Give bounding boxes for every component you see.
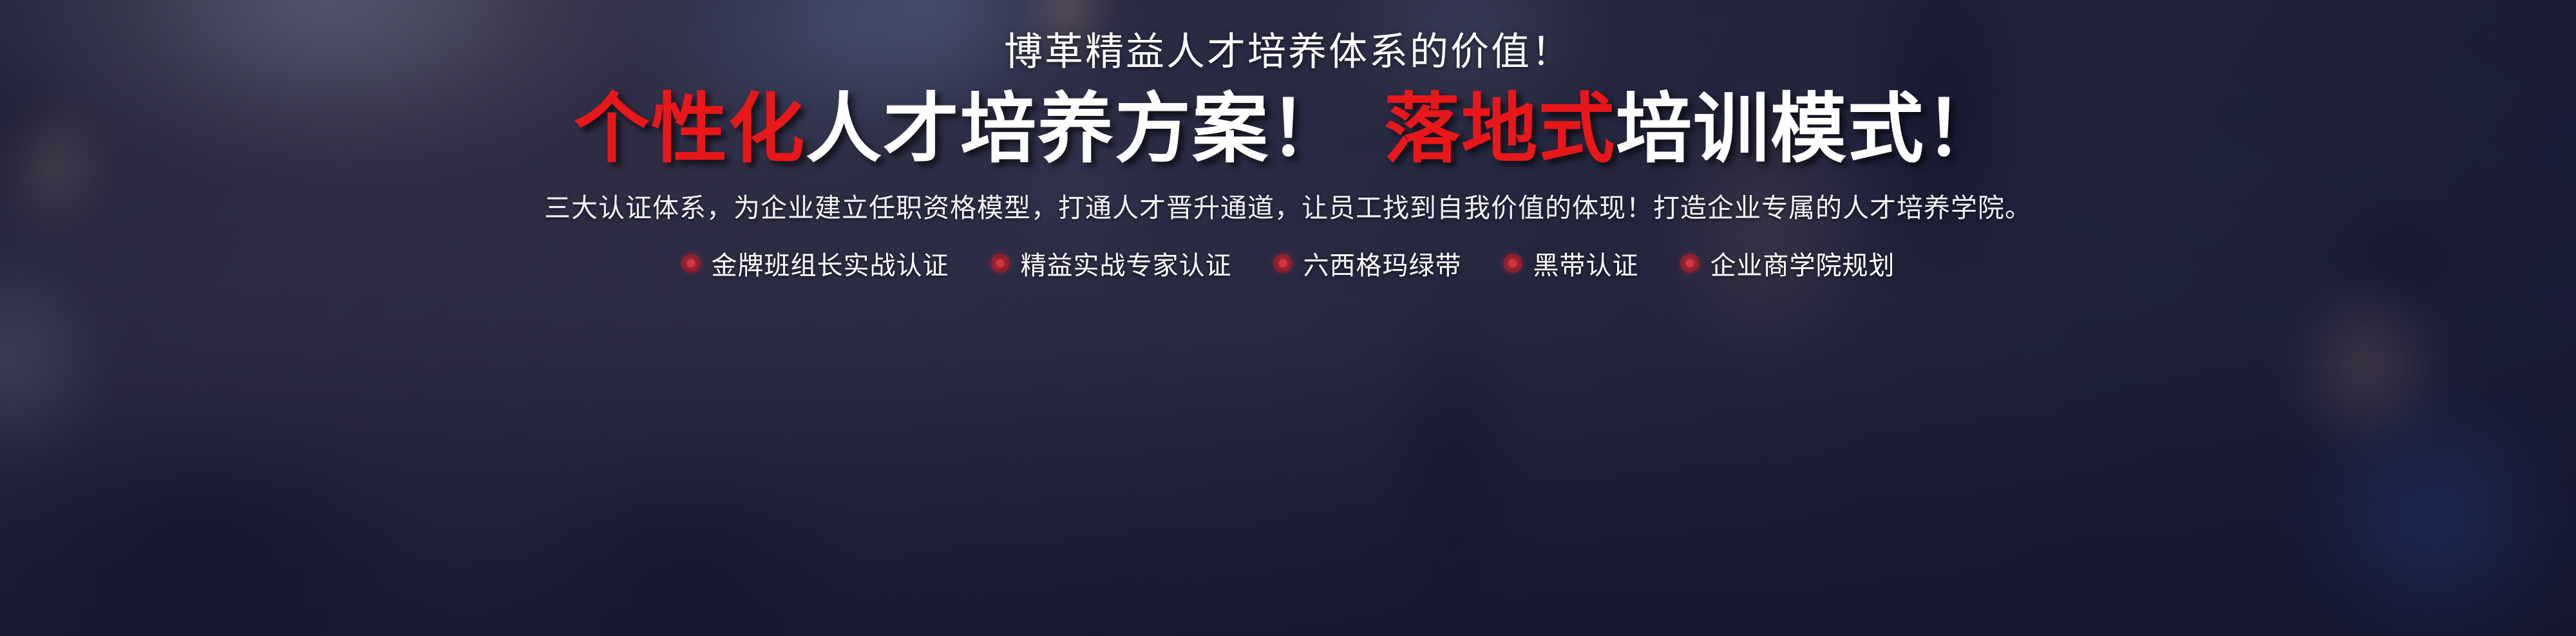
badge-label: 金牌班组长实战认证 <box>712 245 949 282</box>
badge-label: 六西格玛绿带 <box>1303 245 1462 282</box>
badge-item[interactable]: 精益实战专家认证 <box>990 245 1232 282</box>
headline-segment-1-white: 人才培养方案！ <box>806 87 1347 172</box>
banner-headline: 个性化人才培养方案！落地式培训模式！ <box>574 87 2002 172</box>
promo-banner: 博革精益人才培养体系的价值！ 个性化人才培养方案！落地式培训模式！ 三大认证体系… <box>0 0 2576 636</box>
badge-item[interactable]: 黑带认证 <box>1503 245 1639 282</box>
badge-label: 企业商学院规划 <box>1710 245 1895 282</box>
bullet-dot-icon <box>1680 254 1700 273</box>
headline-segment-2-white: 培训模式！ <box>1616 87 2002 172</box>
badge-item[interactable]: 六西格玛绿带 <box>1273 245 1462 282</box>
bullet-dot-icon <box>990 254 1010 273</box>
certification-badge-list: 金牌班组长实战认证 精益实战专家认证 六西格玛绿带 黑带认证 企业商学院规划 <box>681 245 1895 282</box>
badge-label: 黑带认证 <box>1533 245 1639 282</box>
badge-label: 精益实战专家认证 <box>1021 245 1232 282</box>
badge-item[interactable]: 金牌班组长实战认证 <box>681 245 949 282</box>
badge-item[interactable]: 企业商学院规划 <box>1680 245 1895 282</box>
bullet-dot-icon <box>681 254 701 273</box>
banner-subtitle-text: 三大认证体系，为企业建立任职资格模型，打通人才晋升通道，让员工找到自我价值的体现… <box>544 191 2032 225</box>
banner-eyebrow-text: 博革精益人才培养体系的价值！ <box>1004 30 1572 75</box>
headline-segment-2-red: 落地式 <box>1384 87 1616 172</box>
headline-segment-1-red: 个性化 <box>574 87 806 172</box>
banner-content: 博革精益人才培养体系的价值！ 个性化人才培养方案！落地式培训模式！ 三大认证体系… <box>0 0 2576 636</box>
bullet-dot-icon <box>1273 254 1293 273</box>
bullet-dot-icon <box>1503 254 1522 273</box>
